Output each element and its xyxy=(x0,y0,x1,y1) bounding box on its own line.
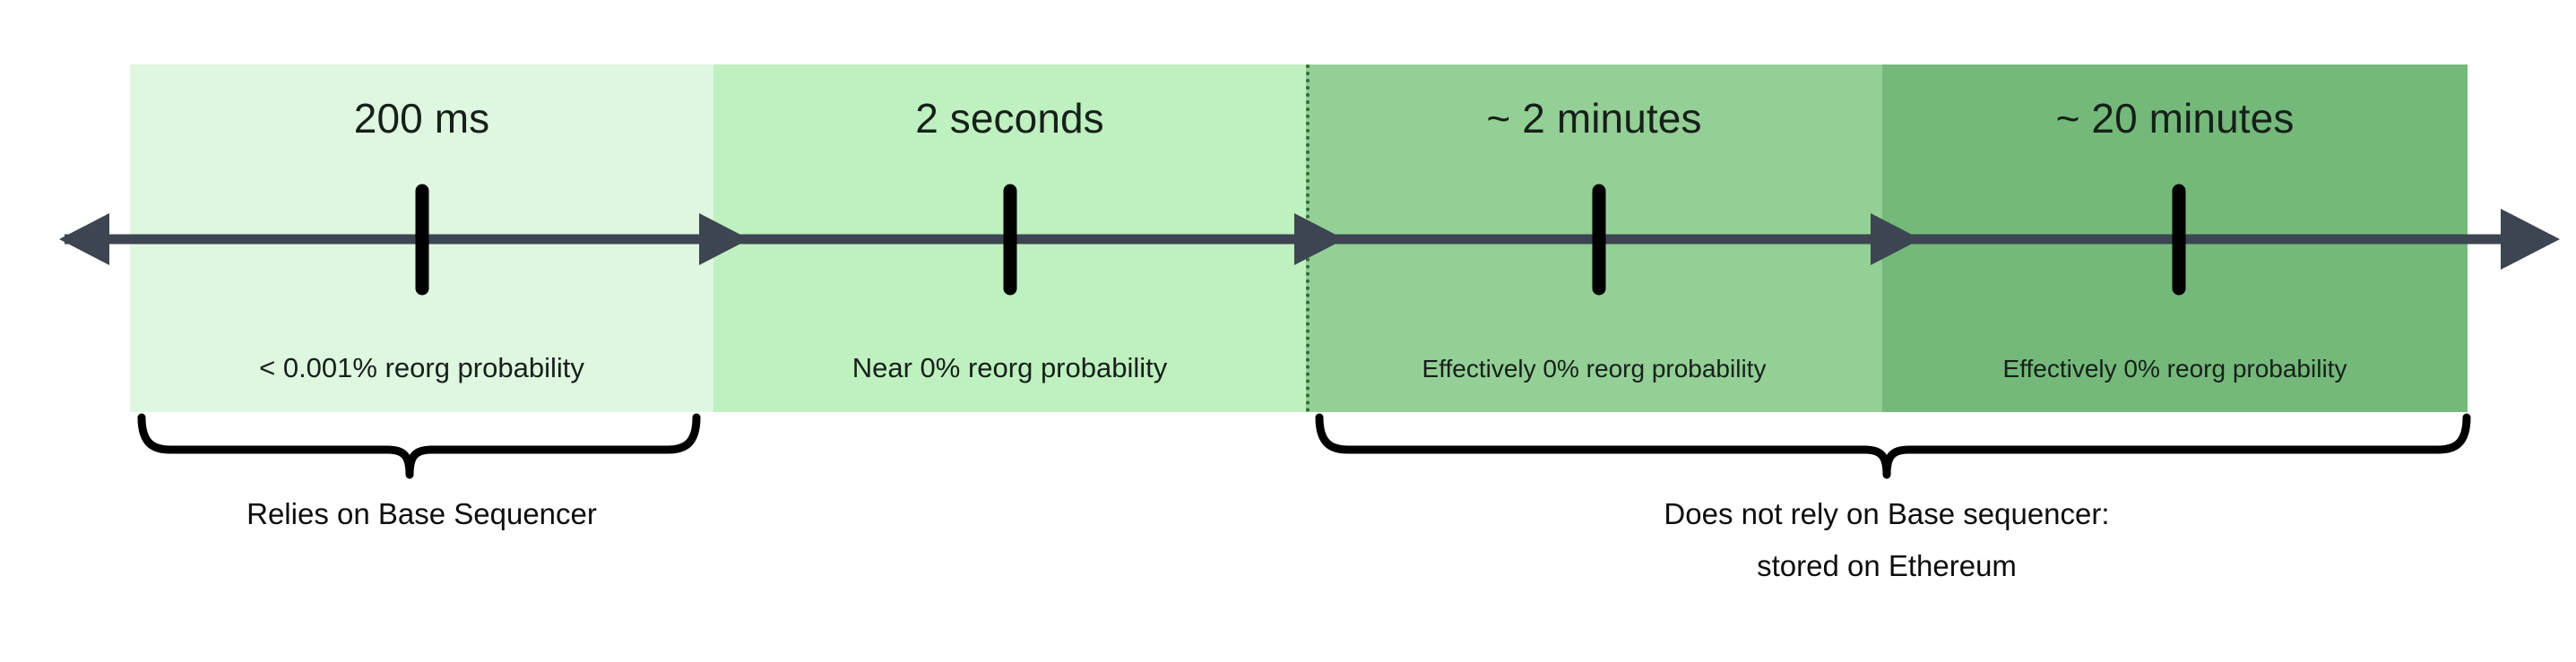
segment-title: ~ 2 minutes xyxy=(1306,93,1882,143)
timeline-segment-200ms: 200 ms < 0.001% reorg probability xyxy=(130,64,713,412)
brace-caption-left: Relies on Base Sequencer xyxy=(130,488,713,540)
brace-caption-right: Does not rely on Base sequencer: stored … xyxy=(1306,488,2468,592)
sequencer-boundary-divider xyxy=(1306,64,1310,412)
timeline-diagram: 200 ms < 0.001% reorg probability 2 seco… xyxy=(0,0,2576,662)
timeline-segment-20-minutes: ~ 20 minutes Effectively 0% reorg probab… xyxy=(1882,64,2468,412)
segment-subtitle: Effectively 0% reorg probability xyxy=(1306,353,1882,385)
segment-subtitle: Near 0% reorg probability xyxy=(713,351,1306,385)
segment-title: 2 seconds xyxy=(713,93,1306,143)
timeline-segment-2-seconds: 2 seconds Near 0% reorg probability xyxy=(713,64,1306,412)
segment-subtitle: Effectively 0% reorg probability xyxy=(1882,353,2468,385)
timeline-segment-2-minutes: ~ 2 minutes Effectively 0% reorg probabi… xyxy=(1306,64,1882,412)
brace-left xyxy=(142,417,696,475)
segment-subtitle: < 0.001% reorg probability xyxy=(130,351,713,385)
brace-right xyxy=(1319,417,2467,475)
axis-arrowhead-right xyxy=(2501,209,2560,270)
axis-arrowhead-left xyxy=(59,213,109,265)
segment-title: 200 ms xyxy=(130,93,713,143)
segment-title: ~ 20 minutes xyxy=(1882,93,2468,143)
